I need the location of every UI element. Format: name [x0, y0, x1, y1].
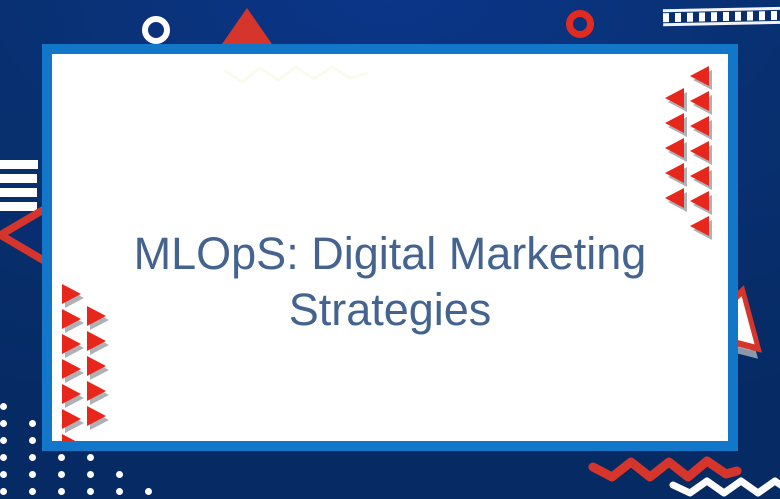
triangle-right-icon [87, 381, 106, 401]
triangle-left-icon [690, 166, 709, 186]
triangle-left-icon [690, 141, 709, 161]
triangle-left-icon [690, 91, 709, 111]
triangle-left-icon [665, 163, 684, 183]
triangle-right-icon [62, 434, 81, 441]
red-zigzag-line [593, 461, 737, 477]
triangle-right-icon [62, 409, 81, 429]
triangle-right-icon [62, 384, 81, 404]
slide-card: MLOpS: Digital Marketing Strategies [52, 54, 728, 441]
triangle-right-icon [87, 356, 106, 376]
triangle-left-icon [665, 138, 684, 158]
triangle-left-icon [665, 113, 684, 133]
triangle-left-icon [690, 191, 709, 211]
triangle-left-icon [665, 188, 684, 208]
triangle-column [690, 66, 709, 241]
presentation-slide: MLOpS: Digital Marketing Strategies [0, 0, 780, 499]
slide-title: MLOpS: Digital Marketing Strategies [52, 226, 728, 338]
faint-zigzag-line [224, 67, 368, 82]
white-zigzag-line [673, 481, 780, 493]
triangle-right-icon [62, 359, 81, 379]
triangle-column [665, 88, 684, 213]
faint-zigzag-decor [222, 64, 372, 90]
triangle-left-icon [665, 88, 684, 108]
triangle-left-icon [690, 116, 709, 136]
triangle-left-icon [690, 66, 709, 86]
triangle-right-icon [87, 406, 106, 426]
triangle-cluster-right [665, 66, 725, 236]
